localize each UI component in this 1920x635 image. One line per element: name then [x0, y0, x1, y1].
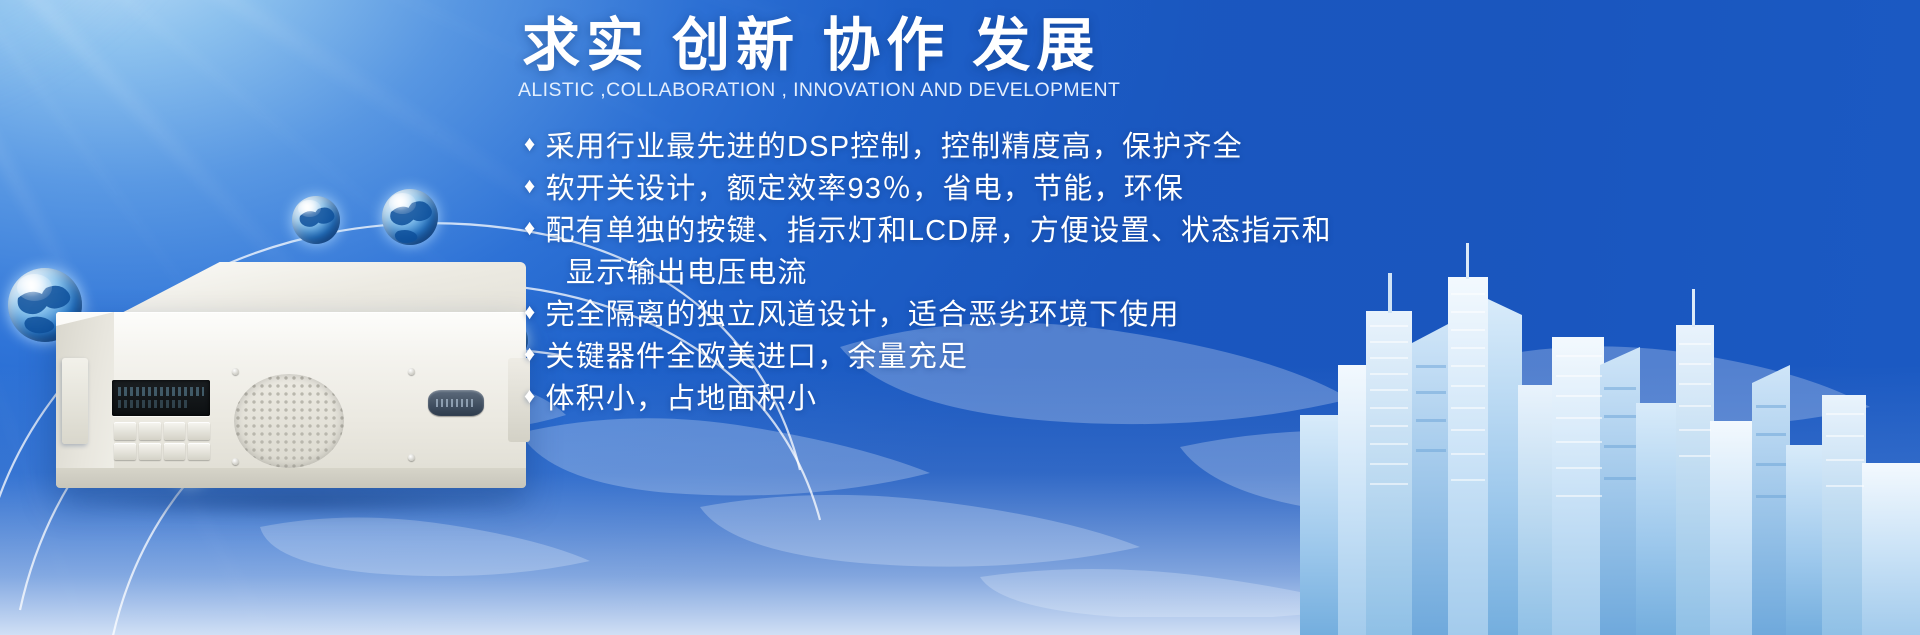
device-shadow	[74, 484, 524, 518]
feature-item: ♦显示输出电压电流	[524, 252, 1516, 294]
feature-item: ♦软开关设计，额定效率93％，省电，节能，环保	[524, 168, 1516, 210]
rack-mount-power-supply	[56, 262, 526, 524]
keypad-button[interactable]	[188, 443, 210, 461]
lcd-line-1	[118, 387, 204, 396]
diamond-bullet-icon: ♦	[524, 336, 536, 371]
feature-item-label: 配有单独的按键、指示灯和LCD屏，方便设置、状态指示和	[545, 210, 1331, 252]
device-bottom-lip	[56, 468, 526, 488]
fan-vent	[234, 374, 344, 468]
keypad-button[interactable]	[114, 422, 136, 440]
keypad-button[interactable]	[188, 422, 210, 440]
feature-item: ♦完全隔离的独立风道设计，适合恶劣环境下使用	[524, 294, 1516, 336]
screw	[408, 454, 415, 461]
diamond-bullet-icon: ♦	[524, 378, 536, 413]
globe-mid-left	[292, 196, 340, 244]
device-top-panel	[112, 262, 526, 318]
feature-item-label: 体积小，占地面积小	[545, 378, 817, 420]
keypad-button[interactable]	[164, 443, 186, 461]
diamond-bullet-icon: ♦	[524, 210, 536, 245]
feature-item: ♦采用行业最先进的DSP控制，控制精度高，保护齐全	[524, 126, 1516, 168]
rack-ear-left	[62, 358, 88, 444]
lcd-line-2	[118, 400, 188, 408]
feature-item-label: 关键器件全欧美进口，余量充足	[545, 336, 968, 378]
feature-item-label: 软开关设计，额定效率93％，省电，节能，环保	[545, 168, 1184, 210]
screw	[232, 458, 239, 465]
subheadline: ALISTIC ,COLLABORATION , INNOVATION AND …	[516, 79, 1516, 102]
feature-item-label: 完全隔离的独立风道设计，适合恶劣环境下使用	[545, 294, 1179, 336]
globe-top	[382, 189, 438, 245]
screw	[408, 368, 415, 375]
diamond-bullet-icon: ♦	[524, 294, 536, 329]
vga-port	[428, 390, 484, 416]
headline: 求实 创新 协作 发展	[516, 16, 1516, 75]
feature-list: ♦采用行业最先进的DSP控制，控制精度高，保护齐全♦软开关设计，额定效率93％，…	[516, 126, 1516, 420]
feature-item-label: 显示输出电压电流	[566, 252, 808, 294]
keypad	[114, 422, 210, 460]
copy-block: 求实 创新 协作 发展 ALISTIC ,COLLABORATION , INN…	[516, 16, 1516, 420]
diamond-bullet-icon: ♦	[524, 168, 536, 203]
screw	[232, 368, 239, 375]
feature-item: ♦配有单独的按键、指示灯和LCD屏，方便设置、状态指示和	[524, 210, 1516, 252]
lcd-display	[112, 380, 210, 416]
diamond-bullet-icon: ♦	[524, 126, 536, 161]
feature-item-label: 采用行业最先进的DSP控制，控制精度高，保护齐全	[545, 126, 1242, 168]
feature-item: ♦体积小，占地面积小	[524, 378, 1516, 420]
keypad-button[interactable]	[139, 422, 161, 440]
keypad-button[interactable]	[114, 443, 136, 461]
keypad-button[interactable]	[139, 443, 161, 461]
promo-banner: 求实 创新 协作 发展 ALISTIC ,COLLABORATION , INN…	[0, 0, 1920, 635]
feature-item: ♦关键器件全欧美进口，余量充足	[524, 336, 1516, 378]
keypad-button[interactable]	[164, 422, 186, 440]
